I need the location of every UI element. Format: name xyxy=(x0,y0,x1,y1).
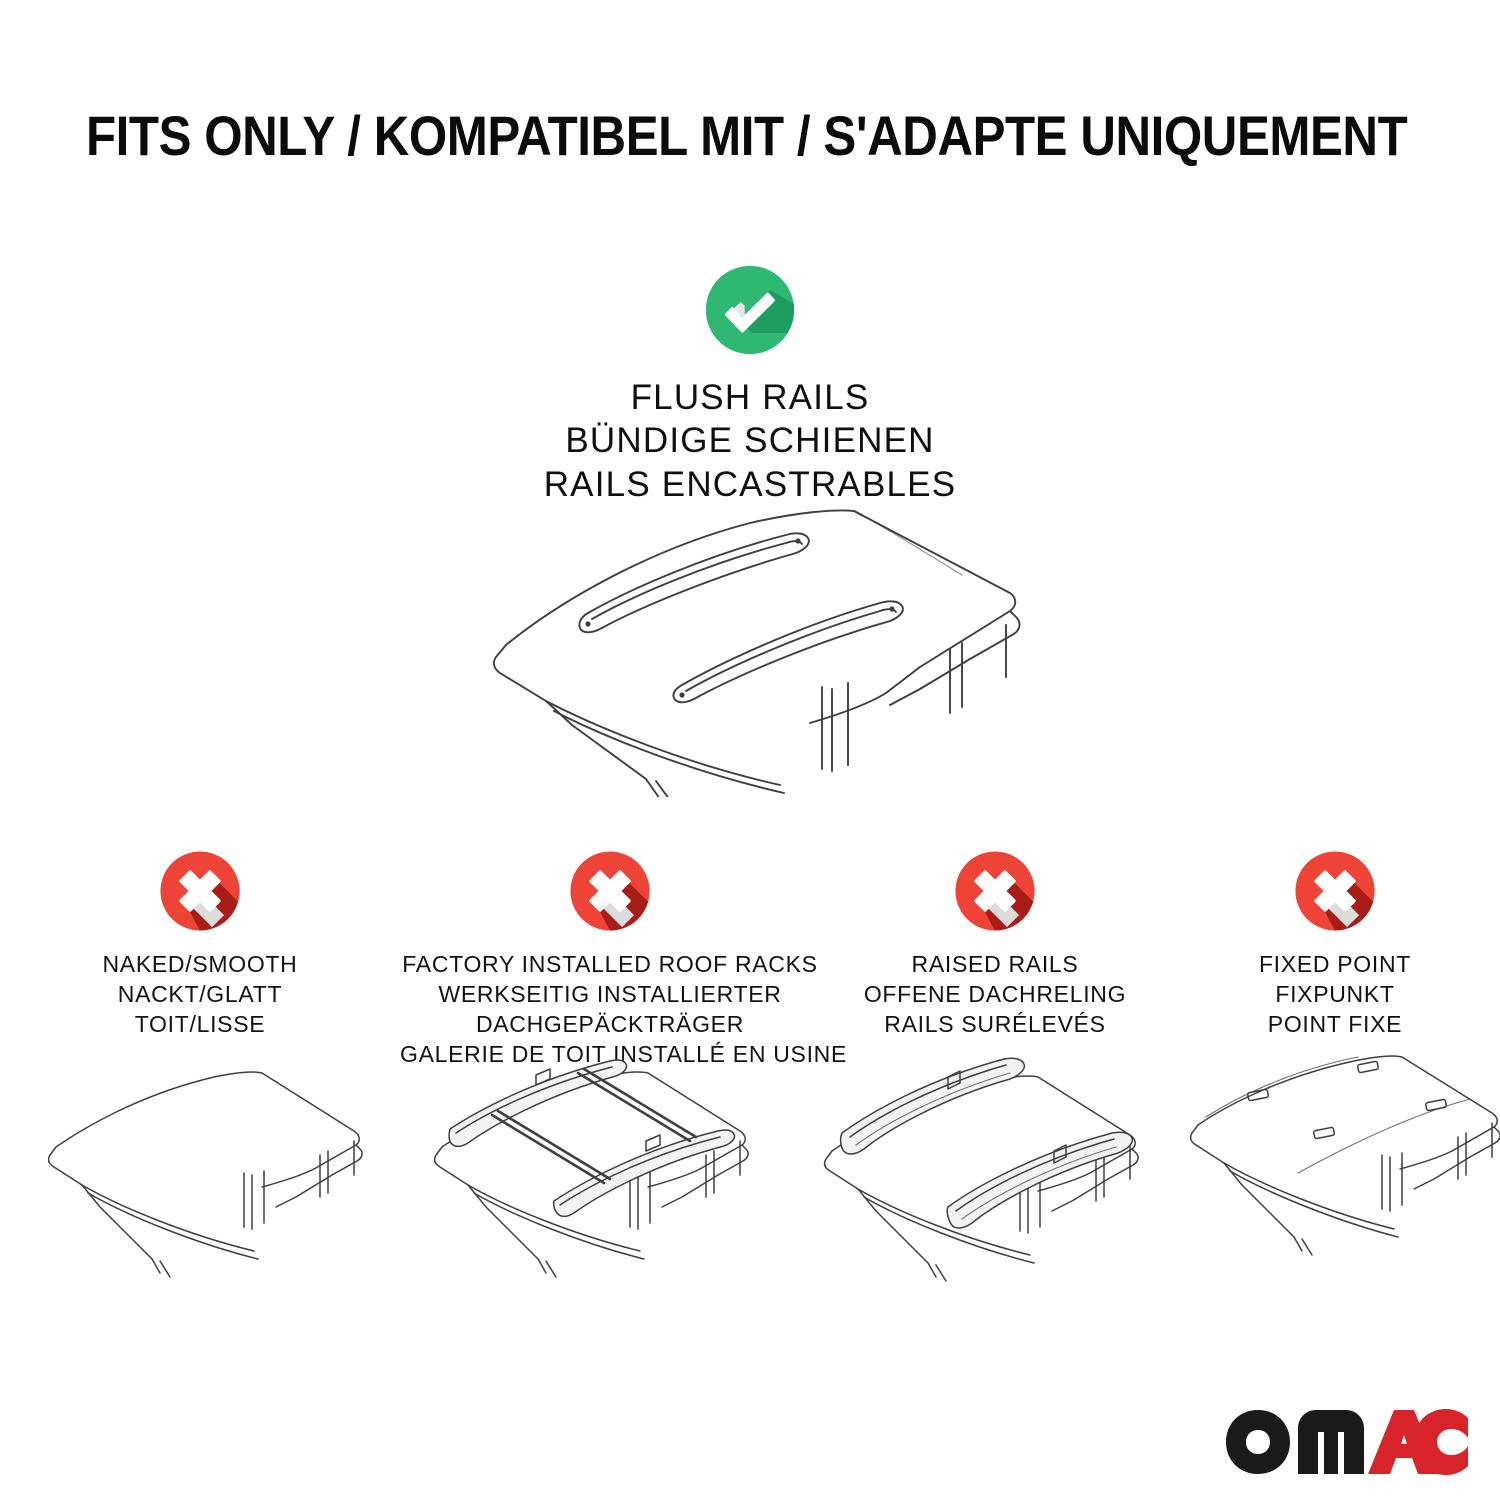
car-roof-with-fixed-points-illustration xyxy=(1188,1055,1500,1295)
incompatible-label-en: RAISED RAILS xyxy=(820,950,1170,980)
incompatible-column-raised-rails: RAISED RAILS OFFENE DACHRELING RAILS SUR… xyxy=(820,848,1170,1040)
logo-letter-m xyxy=(1298,1410,1364,1474)
check-circle-icon xyxy=(702,262,798,358)
incompatible-labels: FIXED POINT FIXPUNKT POINT FIXE xyxy=(1170,950,1500,1040)
omac-logo xyxy=(1224,1406,1470,1478)
incompatible-label-de-1: WERKSEITIG INSTALLIERTER xyxy=(400,980,820,1010)
compatible-label-de: BÜNDIGE SCHIENEN xyxy=(0,419,1500,462)
incompatible-label-de: NACKT/GLATT xyxy=(0,980,400,1010)
cross-circle-icon xyxy=(952,848,1038,934)
incompatible-illustrations xyxy=(0,1055,1500,1305)
incompatible-label-de: FIXPUNKT xyxy=(1170,980,1500,1010)
compatible-section: FLUSH RAILS BÜNDIGE SCHIENEN RAILS ENCAS… xyxy=(0,262,1500,506)
incompatible-sections: NAKED/SMOOTH NACKT/GLATT TOIT/LISSE FACT… xyxy=(0,848,1500,1070)
incompatible-column-fixed-point: FIXED POINT FIXPUNKT POINT FIXE xyxy=(1170,848,1500,1040)
incompatible-label-de-2: DACHGEPÄCKTRÄGER xyxy=(400,1010,820,1040)
incompatible-label-en: FACTORY INSTALLED ROOF RACKS xyxy=(400,950,820,980)
cross-circle-icon xyxy=(1292,848,1378,934)
car-roof-with-raised-rails-illustration xyxy=(820,1055,1170,1295)
incompatible-label-en: NAKED/SMOOTH xyxy=(0,950,400,980)
car-roof-with-factory-crossbars-illustration xyxy=(432,1055,782,1295)
page-title: FITS ONLY / KOMPATIBEL MIT / S'ADAPTE UN… xyxy=(86,108,1330,164)
cross-circle-icon xyxy=(567,848,653,934)
incompatible-column-naked-smooth: NAKED/SMOOTH NACKT/GLATT TOIT/LISSE xyxy=(0,848,400,1040)
incompatible-labels: NAKED/SMOOTH NACKT/GLATT TOIT/LISSE xyxy=(0,950,400,1040)
incompatible-column-factory-roof-racks: FACTORY INSTALLED ROOF RACKS WERKSEITIG … xyxy=(400,848,820,1070)
incompatible-label-de: OFFENE DACHRELING xyxy=(820,980,1170,1010)
incompatible-label-fr: RAILS SURÉLEVÉS xyxy=(820,1010,1170,1040)
incompatible-label-en: FIXED POINT xyxy=(1170,950,1500,980)
incompatible-label-fr: TOIT/LISSE xyxy=(0,1010,400,1040)
cross-circle-icon xyxy=(157,848,243,934)
incompatible-labels: FACTORY INSTALLED ROOF RACKS WERKSEITIG … xyxy=(400,950,820,1070)
car-roof-bare-illustration xyxy=(48,1055,388,1295)
compatible-label-en: FLUSH RAILS xyxy=(0,376,1500,419)
compatible-labels: FLUSH RAILS BÜNDIGE SCHIENEN RAILS ENCAS… xyxy=(0,376,1500,506)
car-roof-with-flush-rails-illustration xyxy=(0,497,1500,797)
page-header: FITS ONLY / KOMPATIBEL MIT / S'ADAPTE UN… xyxy=(0,108,1500,164)
incompatible-label-fr: POINT FIXE xyxy=(1170,1010,1500,1040)
incompatible-labels: RAISED RAILS OFFENE DACHRELING RAILS SUR… xyxy=(820,950,1170,1040)
logo-letter-o xyxy=(1226,1410,1290,1474)
